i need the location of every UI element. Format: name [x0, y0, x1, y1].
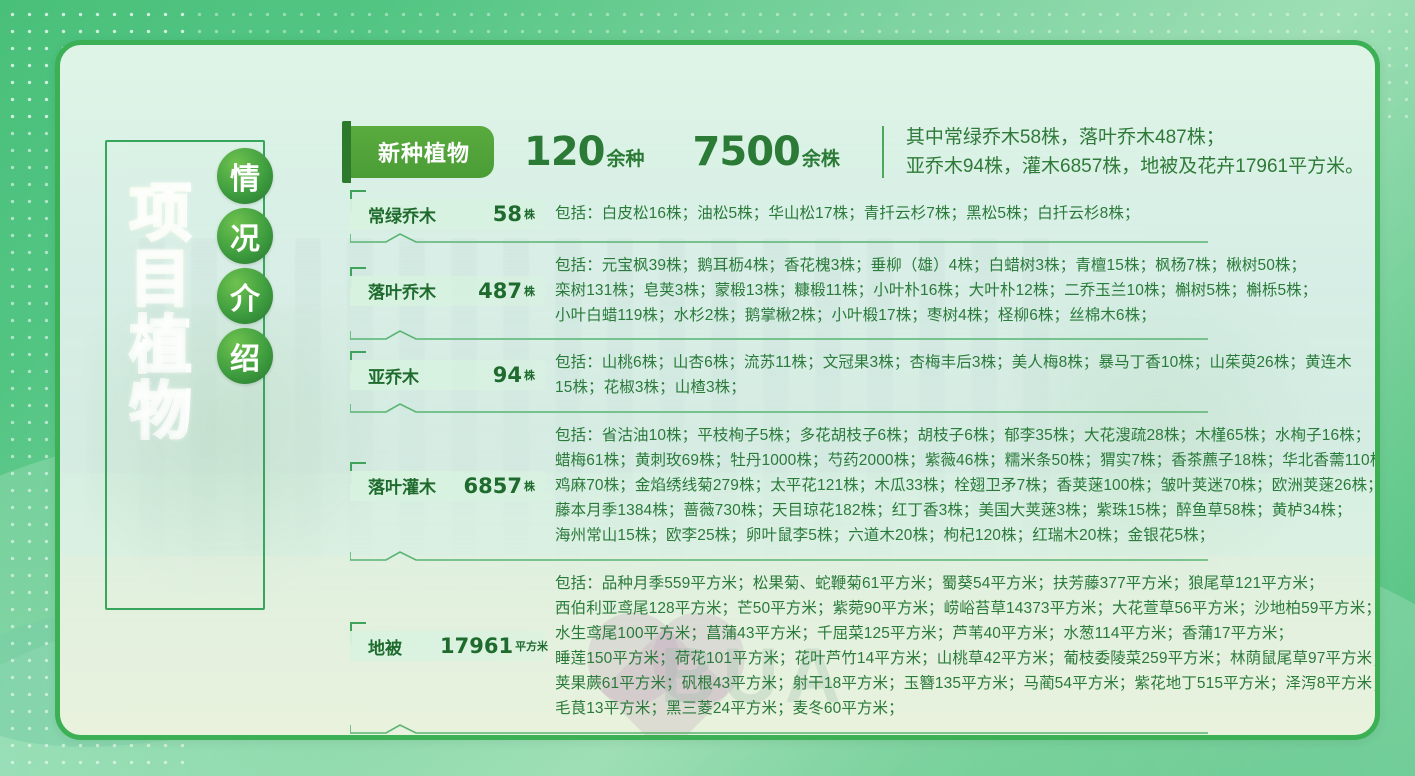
ribbon-label: 新种植物: [350, 126, 494, 178]
category-tag: 地被17961平方米: [350, 631, 545, 661]
stat-count: 7500 余株: [693, 129, 840, 175]
stat-count-unit: 余株: [802, 144, 840, 171]
header-note-line-2: 亚乔木94株，灌木6857株，地被及花卉17961平方米。: [906, 152, 1364, 181]
description-line: 水生鸢尾100平方米；菖蒲43平方米；千屈菜125平方米；芦苇40平方米；水葱1…: [555, 621, 1380, 646]
category-description: 包括：白皮松16株；油松5株；华山松17株；青扦云杉7株；黑松5株；白扦云杉8株…: [545, 201, 1380, 226]
category-unit: 株: [524, 283, 535, 299]
category-tag: 亚乔木94株: [350, 360, 545, 390]
category-tag-body: 亚乔木94株: [350, 360, 545, 390]
stat-species-value: 120: [524, 129, 605, 175]
category-value: 6857: [464, 474, 522, 498]
category-underline: [350, 403, 1380, 417]
category-unit: 株: [524, 478, 535, 494]
stat-species-unit: 余种: [607, 144, 645, 171]
description-line: 15株；花椒3株；山楂3株；: [555, 375, 1380, 400]
page-title: 项目植物: [123, 180, 186, 444]
category-name: 落叶乔木: [368, 278, 440, 303]
category-row: 常绿乔木58株包括：白皮松16株；油松5株；华山松17株；青扦云杉7株；黑松5株…: [350, 197, 1380, 231]
category-underline: [350, 233, 1380, 247]
category-row-wrap: 常绿乔木58株包括：白皮松16株；油松5株；华山松17株；青扦云杉7株；黑松5株…: [350, 197, 1380, 247]
category-value: 94: [493, 363, 522, 387]
category-unit: 株: [524, 206, 535, 222]
description-line: 西伯利亚鸢尾128平方米；芒50平方米；紫菀90平方米；崂峪苔草14373平方米…: [555, 596, 1380, 621]
description-line: 包括：元宝枫39株；鹅耳枥4株；香花槐3株；垂柳（雄）4株；白蜡树3株；青檀15…: [555, 253, 1380, 278]
description-line: 海州常山15株；欧李25株；卵叶鼠李5株；六道木20株；枸杞120株；红瑞木20…: [555, 523, 1380, 548]
category-description: 包括：山桃6株；山杏6株；流苏11株；文冠果3株；杏梅丰后3株；美人梅8株；暴马…: [545, 350, 1380, 400]
title-badges: 情 况 介 绍: [217, 148, 273, 384]
description-line: 毛茛13平方米；黑三菱24平方米；麦冬60平方米；: [555, 696, 1380, 721]
category-row: 落叶乔木487株包括：元宝枫39株；鹅耳枥4株；香花槐3株；垂柳（雄）4株；白蜡…: [350, 253, 1380, 328]
title-badge-2: 介: [217, 268, 273, 324]
category-row-wrap: 落叶灌木6857株包括：省沽油10株；平枝栒子5株；多花胡枝子6株；胡枝子6株；…: [350, 423, 1380, 565]
title-badge-1: 况: [217, 208, 273, 264]
category-underline: [350, 724, 1380, 738]
description-line: 包括：白皮松16株；油松5株；华山松17株；青扦云杉7株；黑松5株；白扦云杉8株…: [555, 201, 1380, 226]
category-underline: [350, 330, 1380, 344]
category-name: 地被: [368, 634, 440, 659]
category-value: 17961: [440, 634, 513, 658]
category-unit: 株: [524, 367, 535, 383]
category-tag-body: 地被17961平方米: [350, 631, 545, 661]
description-line: 睡莲150平方米；荷花101平方米；花叶芦竹14平方米；山桃草42平方米；葡枝委…: [555, 646, 1380, 671]
category-tag-body: 落叶乔木487株: [350, 276, 545, 306]
category-name: 常绿乔木: [368, 202, 440, 227]
ribbon-text: 新种植物: [378, 136, 470, 168]
description-line: 荚果蕨61平方米；矾根43平方米；射干18平方米；玉簪135平方米；马蔺54平方…: [555, 671, 1380, 696]
stat-species: 120 余种: [524, 129, 645, 175]
description-line: 包括：省沽油10株；平枝栒子5株；多花胡枝子6株；胡枝子6株；郁李35株；大花溲…: [555, 423, 1380, 448]
category-value: 58: [493, 202, 522, 226]
category-name: 亚乔木: [368, 363, 440, 388]
category-tag: 落叶灌木6857株: [350, 471, 545, 501]
bracket-corner-icon: [350, 737, 366, 740]
category-row: 亚乔木94株包括：山桃6株；山杏6株；流苏11株；文冠果3株；杏梅丰后3株；美人…: [350, 350, 1380, 400]
category-value: 487: [478, 279, 522, 303]
header-note-line-1: 其中常绿乔木58株，落叶乔木487株；: [906, 123, 1364, 152]
category-name: 落叶灌木: [368, 473, 440, 498]
header-note: 其中常绿乔木58株，落叶乔木487株； 亚乔木94株，灌木6857株，地被及花卉…: [906, 123, 1364, 182]
category-description: 包括：品种月季559平方米；松果菊、蛇鞭菊61平方米；蜀葵54平方米；扶芳藤37…: [545, 571, 1380, 722]
stat-count-value: 7500: [693, 129, 800, 175]
category-row: 落叶灌木6857株包括：省沽油10株；平枝栒子5株；多花胡枝子6株；胡枝子6株；…: [350, 423, 1380, 549]
description-line: 小叶白蜡119株；水杉2株；鹅掌楸2株；小叶椴17株；枣树4株；柽柳6株；丝棉木…: [555, 303, 1380, 328]
category-tag-body: 落叶灌木6857株: [350, 471, 545, 501]
category-row-wrap: 亚乔木94株包括：山桃6株；山杏6株；流苏11株；文冠果3株；杏梅丰后3株；美人…: [350, 350, 1380, 416]
description-line: 栾树131株；皂荚3株；蒙椴13株；糠椴11株；小叶朴16株；大叶朴12株；二乔…: [555, 278, 1380, 303]
category-unit: 平方米: [515, 638, 548, 654]
category-rows: 常绿乔木58株包括：白皮松16株；油松5株；华山松17株；青扦云杉7株；黑松5株…: [350, 197, 1380, 740]
content-panel: BUA 项目植物 情 况 介 绍 新种植物 120 余种 7500 余株: [55, 40, 1380, 740]
description-line: 藤本月季1384株；蔷薇730株；天目琼花182株；红丁香3株；美国大荚蒾3株；…: [555, 498, 1380, 523]
description-line: 蜡梅61株；黄刺玫69株；牡丹1000株；芍药2000株；紫薇46株；糯米条50…: [555, 448, 1380, 473]
title-block: 项目植物 情 况 介 绍: [105, 140, 305, 610]
category-row-wrap: 落叶乔木487株包括：元宝枫39株；鹅耳枥4株；香花槐3株；垂柳（雄）4株；白蜡…: [350, 253, 1380, 344]
category-row-wrap: 地被17961平方米包括：品种月季559平方米；松果菊、蛇鞭菊61平方米；蜀葵5…: [350, 571, 1380, 738]
category-description: 包括：省沽油10株；平枝栒子5株；多花胡枝子6株；胡枝子6株；郁李35株；大花溲…: [545, 423, 1380, 549]
description-line: 鸡麻70株；金焰绣线菊279株；太平花121株；木瓜33株；栓翅卫矛7株；香荚蒾…: [555, 473, 1380, 498]
title-badge-3: 绍: [217, 328, 273, 384]
title-badge-0: 情: [217, 148, 273, 204]
header-divider: [882, 126, 884, 178]
category-row: 地被17961平方米包括：品种月季559平方米；松果菊、蛇鞭菊61平方米；蜀葵5…: [350, 571, 1380, 722]
category-description: 包括：元宝枫39株；鹅耳枥4株；香花槐3株；垂柳（雄）4株；白蜡树3株；青檀15…: [545, 253, 1380, 328]
summary-header: 新种植物 120 余种 7500 余株 其中常绿乔木58株，落叶乔木487株； …: [350, 123, 1364, 182]
poster-canvas: BUA 项目植物 情 况 介 绍 新种植物 120 余种 7500 余株: [0, 0, 1415, 776]
category-underline: [350, 551, 1380, 565]
description-line: 包括：品种月季559平方米；松果菊、蛇鞭菊61平方米；蜀葵54平方米；扶芳藤37…: [555, 571, 1380, 596]
category-tag-body: 常绿乔木58株: [350, 199, 545, 229]
category-tag: 常绿乔木58株: [350, 199, 545, 229]
category-tag: 落叶乔木487株: [350, 276, 545, 306]
description-line: 包括：山桃6株；山杏6株；流苏11株；文冠果3株；杏梅丰后3株；美人梅8株；暴马…: [555, 350, 1380, 375]
